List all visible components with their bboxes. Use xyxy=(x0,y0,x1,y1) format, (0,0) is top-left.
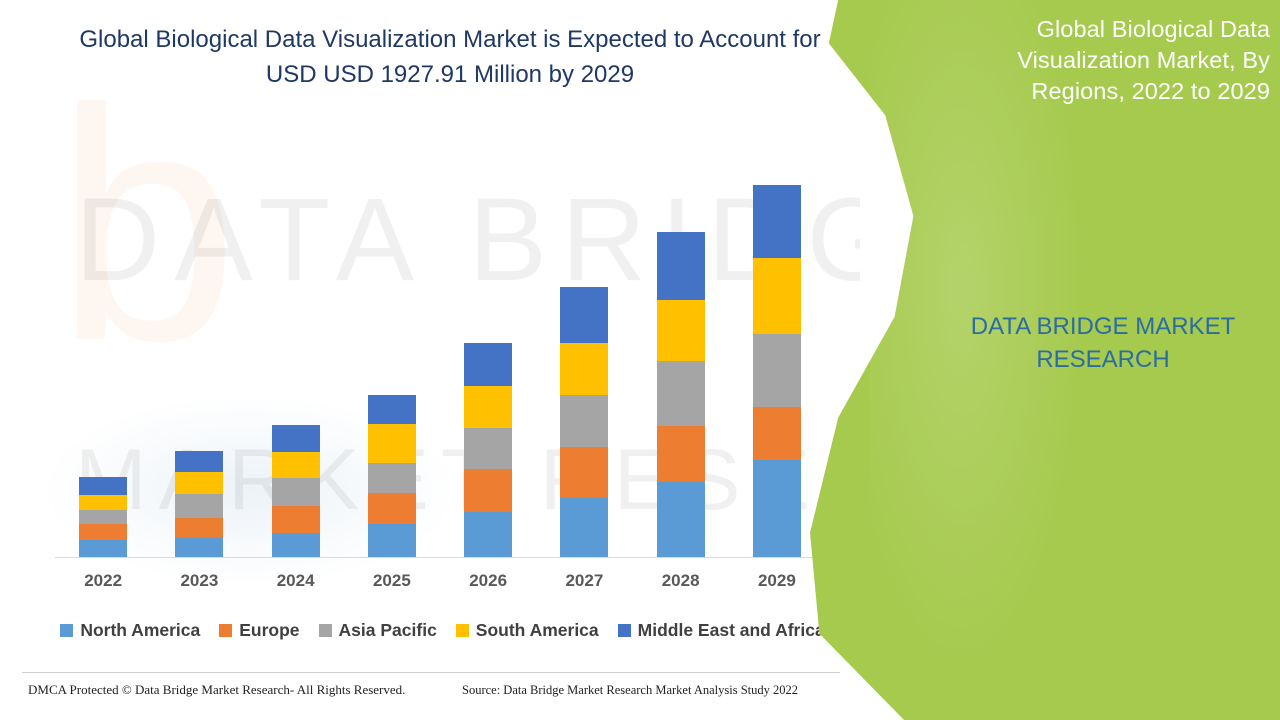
bar-segment[interactable] xyxy=(464,428,512,469)
bar-segment[interactable] xyxy=(79,495,127,509)
bar-segment[interactable] xyxy=(368,493,416,523)
stacked-bar[interactable] xyxy=(175,451,223,557)
bar-segment[interactable] xyxy=(657,300,705,362)
legend-label: Asia Pacific xyxy=(339,620,437,641)
bar-column xyxy=(633,150,729,557)
bar-segment[interactable] xyxy=(560,395,608,447)
legend-label: Europe xyxy=(239,620,299,641)
legend-item[interactable]: Asia Pacific xyxy=(319,620,437,641)
bar-segment[interactable] xyxy=(753,258,801,334)
x-axis-tick-label: 2028 xyxy=(633,571,729,591)
chart-legend: North AmericaEuropeAsia PacificSouth Ame… xyxy=(55,616,830,644)
bar-segment[interactable] xyxy=(560,447,608,499)
stacked-bar[interactable] xyxy=(464,343,512,557)
bar-segment[interactable] xyxy=(368,524,416,557)
bar-segment[interactable] xyxy=(657,426,705,482)
legend-item[interactable]: North America xyxy=(60,620,200,641)
stacked-bar[interactable] xyxy=(657,232,705,557)
bar-segment[interactable] xyxy=(272,452,320,478)
bar-segment[interactable] xyxy=(368,424,416,463)
bar-segment[interactable] xyxy=(79,540,127,557)
bar-segment[interactable] xyxy=(560,287,608,343)
footer-divider xyxy=(22,672,840,673)
bar-segment[interactable] xyxy=(464,343,512,386)
bar-segment[interactable] xyxy=(175,494,223,517)
brand-panel-title: Global Biological Data Visualization Mar… xyxy=(920,14,1270,107)
x-axis-labels: 20222023202420252026202720282029 xyxy=(55,566,825,596)
infographic-root: b DATA BRIDGE MARKET RESEARCH Global Bio… xyxy=(0,0,1280,720)
bar-column xyxy=(536,150,632,557)
bar-segment[interactable] xyxy=(753,334,801,407)
bar-segment[interactable] xyxy=(175,472,223,494)
bar-segment[interactable] xyxy=(464,512,512,557)
bar-segment[interactable] xyxy=(464,386,512,429)
bar-segment[interactable] xyxy=(272,425,320,451)
bar-column xyxy=(248,150,344,557)
bar-segment[interactable] xyxy=(272,506,320,532)
x-axis-tick-label: 2024 xyxy=(248,571,344,591)
bar-group xyxy=(55,150,825,557)
footer: DMCA Protected © Data Bridge Market Rese… xyxy=(0,672,860,720)
bar-column xyxy=(440,150,536,557)
x-axis-line xyxy=(55,557,825,558)
bar-segment[interactable] xyxy=(175,451,223,472)
bar-segment[interactable] xyxy=(657,361,705,426)
legend-swatch-icon xyxy=(319,624,332,637)
stacked-bar[interactable] xyxy=(368,395,416,557)
bar-segment[interactable] xyxy=(79,524,127,540)
legend-item[interactable]: South America xyxy=(456,620,599,641)
legend-label: South America xyxy=(476,620,599,641)
bar-segment[interactable] xyxy=(753,185,801,258)
bar-column xyxy=(151,150,247,557)
x-axis-tick-label: 2025 xyxy=(344,571,440,591)
x-axis-tick-label: 2027 xyxy=(536,571,632,591)
bar-segment[interactable] xyxy=(657,482,705,557)
legend-item[interactable]: Middle East and Africa xyxy=(618,620,825,641)
brand-name: DATA BRIDGE MARKET RESEARCH xyxy=(938,310,1268,376)
legend-item[interactable]: Europe xyxy=(219,620,299,641)
bar-segment[interactable] xyxy=(368,395,416,424)
x-axis-tick-label: 2026 xyxy=(440,571,536,591)
legend-swatch-icon xyxy=(618,624,631,637)
footer-source: Source: Data Bridge Market Research Mark… xyxy=(462,683,798,698)
stacked-bar[interactable] xyxy=(753,185,801,557)
bar-segment[interactable] xyxy=(79,477,127,495)
x-axis-tick-label: 2022 xyxy=(55,571,151,591)
bar-segment[interactable] xyxy=(175,538,223,557)
bar-column xyxy=(55,150,151,557)
legend-swatch-icon xyxy=(60,624,73,637)
bar-segment[interactable] xyxy=(272,478,320,506)
bar-segment[interactable] xyxy=(464,469,512,513)
bar-segment[interactable] xyxy=(753,407,801,460)
bar-segment[interactable] xyxy=(560,343,608,395)
stacked-bar[interactable] xyxy=(272,425,320,557)
footer-copyright: DMCA Protected © Data Bridge Market Rese… xyxy=(28,682,405,698)
bar-column xyxy=(344,150,440,557)
bar-segment[interactable] xyxy=(368,463,416,493)
stacked-bar[interactable] xyxy=(560,287,608,557)
bar-segment[interactable] xyxy=(753,460,801,557)
legend-swatch-icon xyxy=(219,624,232,637)
bar-segment[interactable] xyxy=(79,510,127,524)
legend-swatch-icon xyxy=(456,624,469,637)
legend-label: North America xyxy=(80,620,200,641)
legend-label: Middle East and Africa xyxy=(638,620,825,641)
bar-segment[interactable] xyxy=(657,232,705,300)
bar-segment[interactable] xyxy=(175,518,223,538)
bar-segment[interactable] xyxy=(272,533,320,557)
bar-segment[interactable] xyxy=(560,498,608,557)
stacked-bar[interactable] xyxy=(79,477,127,557)
chart-plot-area: 20222023202420252026202720282029 North A… xyxy=(0,0,860,720)
x-axis-tick-label: 2023 xyxy=(151,571,247,591)
brand-panel: Global Biological Data Visualization Mar… xyxy=(810,0,1280,720)
